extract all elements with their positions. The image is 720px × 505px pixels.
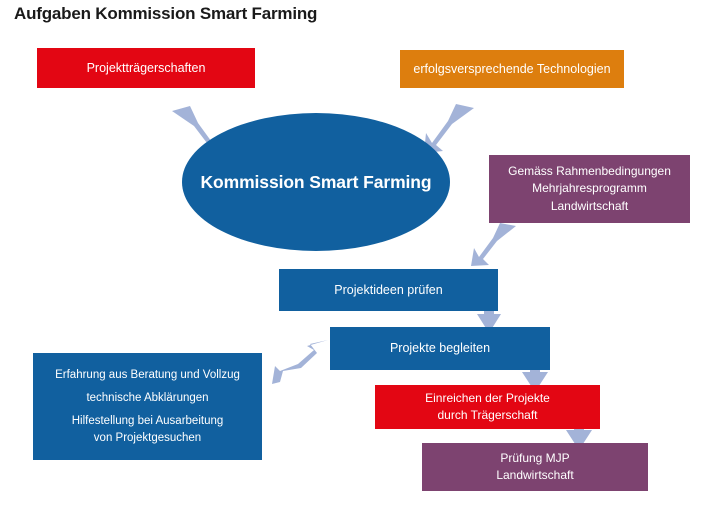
node-pruefung-mjp[interactable]: Prüfung MJP Landwirtschaft [422, 443, 648, 491]
node-projekttraegerschaften[interactable]: Projektträgerschaften [37, 48, 255, 88]
node-label-line: von Projektgesuchen [72, 430, 224, 447]
arrow-erfahrung-to-begleiten [270, 338, 332, 388]
node-label-line: durch Trägerschaft [437, 407, 537, 424]
node-label-line: Erfahrung aus Beratung und Vollzug [55, 367, 240, 384]
node-erfahrung-beratung-vollzug[interactable]: Erfahrung aus Beratung und Vollzug techn… [33, 353, 262, 460]
node-label-line: Projekte begleiten [390, 339, 490, 357]
arrow-rahmenbedingungen-to-projektideen [468, 222, 520, 268]
node-label-line: Projektträgerschaften [87, 59, 206, 77]
node-label-line: Prüfung MJP [500, 450, 569, 467]
node-projekte-begleiten[interactable]: Projekte begleiten [330, 327, 550, 370]
node-label-line: Landwirtschaft [551, 198, 628, 215]
node-projektideen-pruefen[interactable]: Projektideen prüfen [279, 269, 498, 311]
node-label: Kommission Smart Farming [201, 172, 432, 193]
node-label-line: Einreichen der Projekte [425, 390, 550, 407]
node-erfolgsversprechende-technologien[interactable]: erfolgsversprechende Technologien [400, 50, 624, 88]
node-label-line: Landwirtschaft [496, 467, 573, 484]
node-rahmenbedingungen[interactable]: Gemäss Rahmenbedingungen Mehrjahresprogr… [489, 155, 690, 223]
node-label-line: Mehrjahresprogramm [532, 180, 647, 197]
diagram-canvas: Aufgaben Kommission Smart Farming [0, 0, 720, 505]
node-einreichen-projekte[interactable]: Einreichen der Projekte durch Trägerscha… [375, 385, 600, 429]
node-label-line: technische Abklärungen [86, 390, 208, 407]
node-label-line: Projektideen prüfen [334, 281, 442, 299]
node-kommission-smart-farming[interactable]: Kommission Smart Farming [182, 113, 450, 251]
node-label-line: erfolgsversprechende Technologien [413, 60, 610, 78]
node-label-line: Gemäss Rahmenbedingungen [508, 163, 671, 180]
node-label-line: Hilfestellung bei Ausarbeitung [72, 413, 224, 430]
page-title: Aufgaben Kommission Smart Farming [14, 4, 317, 24]
